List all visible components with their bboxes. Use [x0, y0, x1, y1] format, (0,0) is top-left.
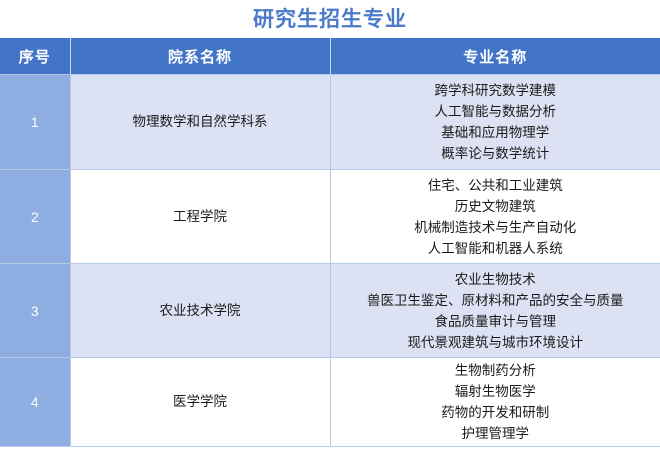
- major-item: 机械制造技术与生产自动化: [332, 217, 660, 238]
- major-item: 食品质量审计与管理: [332, 311, 660, 332]
- column-header-faculty: 院系名称: [70, 38, 330, 75]
- row-faculty-cell: 农业技术学院: [70, 264, 330, 358]
- major-item: 现代景观建筑与城市环境设计: [332, 332, 660, 353]
- table-row: 3 农业技术学院 农业生物技术 兽医卫生鉴定、原材料和产品的安全与质量 食品质量…: [0, 264, 660, 358]
- major-item: 住宅、公共和工业建筑: [332, 175, 660, 196]
- table-header: 序号 院系名称 专业名称: [0, 38, 660, 75]
- table-row: 2 工程学院 住宅、公共和工业建筑 历史文物建筑 机械制造技术与生产自动化 人工…: [0, 170, 660, 264]
- column-header-index: 序号: [0, 38, 70, 75]
- row-index-cell: 2: [0, 170, 70, 264]
- admissions-majors-table: 序号 院系名称 专业名称 1 物理数学和自然学科系 跨学科研究数学建模 人工智能…: [0, 38, 660, 447]
- major-item: 人工智能和机器人系统: [332, 238, 660, 259]
- major-item: 基础和应用物理学: [332, 122, 660, 143]
- title-bar: 研究生招生专业: [0, 0, 660, 38]
- major-item: 历史文物建筑: [332, 196, 660, 217]
- page-root: 研究生招生专业 序号 院系名称 专业名称 1 物理数学和自然学科系 跨学科研究数…: [0, 0, 660, 457]
- table-row: 4 医学学院 生物制药分析 辐射生物医学 药物的开发和研制 护理管理学: [0, 358, 660, 447]
- major-item: 农业生物技术: [332, 269, 660, 290]
- page-title: 研究生招生专业: [253, 9, 407, 30]
- major-item: 人工智能与数据分析: [332, 101, 660, 122]
- major-item: 药物的开发和研制: [332, 402, 660, 423]
- major-item: 兽医卫生鉴定、原材料和产品的安全与质量: [332, 290, 660, 311]
- table-body: 1 物理数学和自然学科系 跨学科研究数学建模 人工智能与数据分析 基础和应用物理…: [0, 75, 660, 447]
- row-majors-cell: 生物制药分析 辐射生物医学 药物的开发和研制 护理管理学: [330, 358, 660, 447]
- row-majors-cell: 跨学科研究数学建模 人工智能与数据分析 基础和应用物理学 概率论与数学统计: [330, 75, 660, 170]
- major-item: 生物制药分析: [332, 360, 660, 381]
- major-item: 概率论与数学统计: [332, 143, 660, 164]
- major-item: 跨学科研究数学建模: [332, 80, 660, 101]
- column-header-majors: 专业名称: [330, 38, 660, 75]
- table-row: 1 物理数学和自然学科系 跨学科研究数学建模 人工智能与数据分析 基础和应用物理…: [0, 75, 660, 170]
- row-faculty-cell: 物理数学和自然学科系: [70, 75, 330, 170]
- row-index-cell: 4: [0, 358, 70, 447]
- row-faculty-cell: 工程学院: [70, 170, 330, 264]
- header-row: 序号 院系名称 专业名称: [0, 38, 660, 75]
- major-item: 辐射生物医学: [332, 381, 660, 402]
- row-index-cell: 1: [0, 75, 70, 170]
- major-item: 护理管理学: [332, 423, 660, 444]
- row-majors-cell: 住宅、公共和工业建筑 历史文物建筑 机械制造技术与生产自动化 人工智能和机器人系…: [330, 170, 660, 264]
- row-faculty-cell: 医学学院: [70, 358, 330, 447]
- row-majors-cell: 农业生物技术 兽医卫生鉴定、原材料和产品的安全与质量 食品质量审计与管理 现代景…: [330, 264, 660, 358]
- row-index-cell: 3: [0, 264, 70, 358]
